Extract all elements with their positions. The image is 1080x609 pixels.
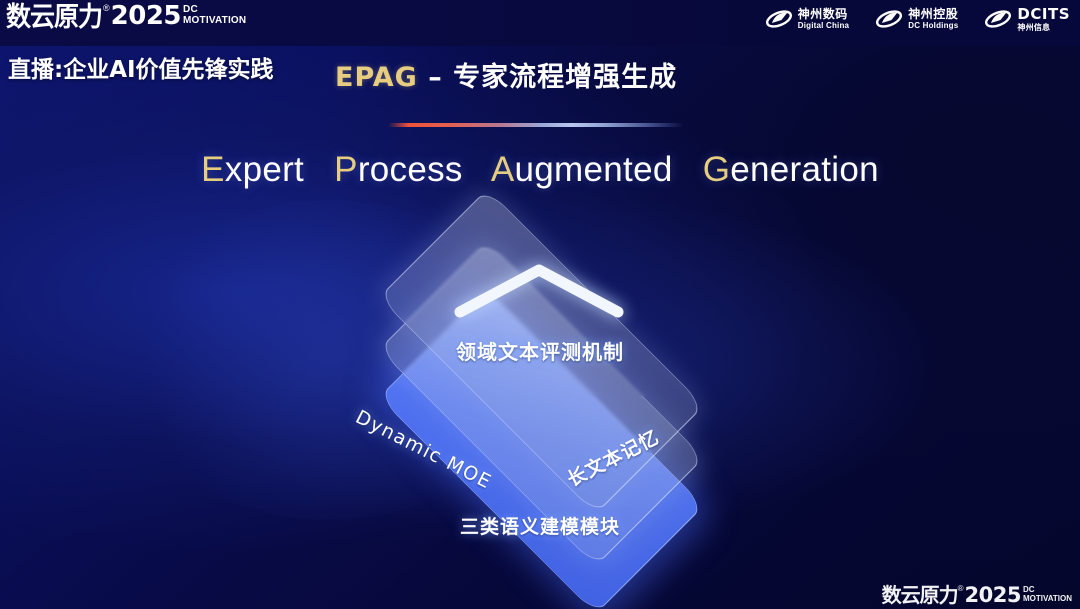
partner-logo-dcits: DCITS 神州信息 [984,6,1070,32]
title-word-expert: Expert [201,150,304,189]
partner-name-en: 神州信息 [1017,24,1070,32]
title-space [314,150,324,189]
partner-name-en: DC Holdings [908,22,958,30]
brand-dc-motivation: DC MOTIVATION [183,5,246,26]
watermark-name-cn: 数云原力 [882,584,958,606]
layered-architecture-diagram: 领域文本评测机制 Dynamic MOE 长文本记忆 三类语义建模模块 [290,228,790,576]
watermark-dc-motivation: DC MOTIVATION [1023,586,1072,603]
stack-layer-top-label: 领域文本评测机制 [290,336,790,365]
partner-name-en: Digital China [798,22,850,30]
partner-name-cn: DCITS [1017,7,1070,22]
watermark-dc-line1: DC [1023,586,1072,594]
headline-acronym: EPAG [335,62,418,93]
title-space [683,150,693,189]
live-session-title: 直播:企业AI价值先锋实践 [8,50,274,84]
title-cap-letter: G [703,150,731,189]
partner-logo-text: 神州数码 Digital China [798,8,850,30]
slide-canvas: 数云原力 ® 2025 DC MOTIVATION 直播:企业AI价值先锋实践 … [0,0,1080,609]
partner-logo-dc-holdings: 神州控股 DC Holdings [875,6,958,32]
chevron-up-icon [450,260,628,322]
headline-dash: – [418,62,453,93]
watermark-registered-mark: ® [958,584,964,594]
title-word-rest: ugmented [515,150,673,189]
title-cap-letter: A [491,150,515,189]
title-word-rest: rocess [358,150,463,189]
title-word-rest: eneration [730,150,879,189]
title-space [473,150,483,189]
brand-name-cn: 数云原力 [6,2,102,32]
title-word-augmented: Augmented [491,150,673,189]
brand-year: 2025 [111,2,181,30]
title-word-generation: Generation [703,150,879,189]
partner-name-cn: 神州数码 [798,8,850,20]
partner-logo-text: DCITS 神州信息 [1017,7,1070,32]
gradient-divider [388,123,684,127]
partner-logo-group: 神州数码 Digital China 神州控股 DC Holdings DCIT… [765,6,1070,32]
title-word-process: Process [334,150,463,189]
partner-logo-text: 神州控股 DC Holdings [908,8,958,30]
brand-logo-top-left: 数云原力 ® 2025 DC MOTIVATION [6,2,246,30]
title-word-rest: xpert [225,150,304,189]
swirl-logo-icon [765,6,793,32]
slide-headline: EPAG – 专家流程增强生成 [335,55,677,94]
brand-watermark-bottom-right: 数云原力 ® 2025 DC MOTIVATION [882,584,1072,606]
brand-dc-line2: MOTIVATION [183,15,246,26]
watermark-dc-line2: MOTIVATION [1023,594,1072,603]
partner-logo-digital-china: 神州数码 Digital China [765,6,850,32]
swirl-logo-icon [984,6,1012,32]
watermark-year: 2025 [965,584,1021,606]
title-cap-letter: P [334,150,358,189]
brand-registered-mark: ® [103,2,110,14]
partner-name-cn: 神州控股 [908,8,958,20]
stack-layer-bottom-label: 三类语义建模模块 [290,512,790,539]
headline-chinese: 专家流程增强生成 [453,62,677,93]
title-cap-letter: E [201,150,225,189]
swirl-logo-icon [875,6,903,32]
page-title: Expert Process Augmented Generation [0,150,1080,190]
brand-dc-line1: DC [183,5,246,15]
